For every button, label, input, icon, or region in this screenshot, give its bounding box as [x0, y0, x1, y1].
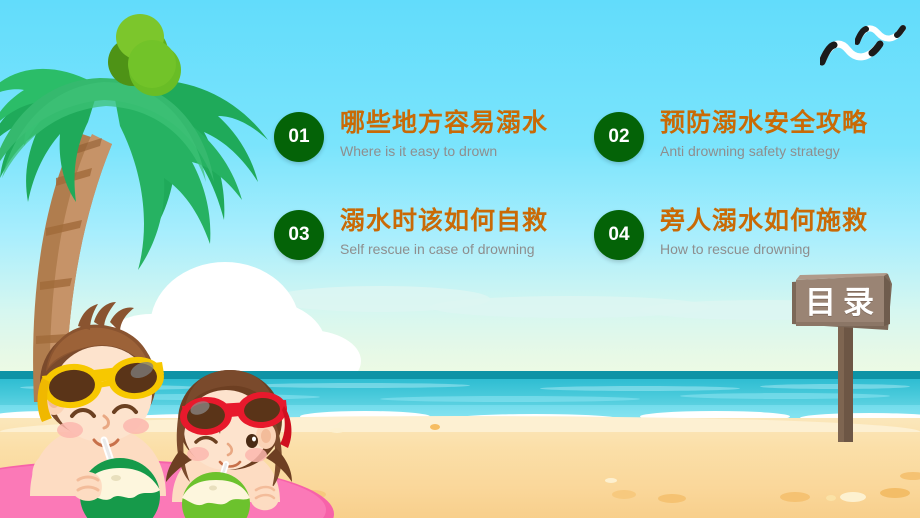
sand-speck — [880, 488, 910, 498]
menu-title-cn: 旁人溺水如何施救 — [660, 204, 906, 238]
menu-item-text: 旁人溺水如何施救 How to rescue drowning — [660, 204, 906, 260]
menu-number-badge: 04 — [594, 210, 644, 260]
menu-item-03[interactable]: 03 溺水时该如何自救 Self rescue in case of drown… — [266, 202, 586, 282]
menu-title-cn: 预防溺水安全攻略 — [660, 106, 906, 140]
menu-number-badge: 01 — [274, 112, 324, 162]
slide-canvas: 目录 — [0, 0, 920, 518]
menu-item-04[interactable]: 04 旁人溺水如何施救 How to rescue drowning — [586, 202, 906, 282]
sand-speck — [605, 478, 617, 483]
seagull-icon — [855, 22, 907, 50]
menu-title-cn: 哪些地方容易溺水 — [340, 106, 586, 140]
sand-speck — [430, 424, 440, 430]
menu-title-en: How to rescue drowning — [660, 238, 906, 260]
wave-highlight — [380, 396, 640, 402]
menu-number-badge: 02 — [594, 112, 644, 162]
menu-item-01[interactable]: 01 哪些地方容易溺水 Where is it easy to drown — [266, 104, 586, 184]
kids-illustration — [0, 300, 334, 518]
menu-title-cn: 溺水时该如何自救 — [340, 204, 586, 238]
menu-title-en: Where is it easy to drown — [340, 140, 586, 162]
menu-item-02[interactable]: 02 预防溺水安全攻略 Anti drowning safety strateg… — [586, 104, 906, 184]
contents-menu: 01 哪些地方容易溺水 Where is it easy to drown 02… — [266, 104, 906, 284]
contents-heading: 目录 — [802, 281, 884, 325]
wave-highlight — [540, 386, 740, 391]
sand-speck — [826, 495, 836, 501]
menu-item-text: 哪些地方容易溺水 Where is it easy to drown — [340, 106, 586, 162]
sand-speck — [612, 490, 636, 499]
menu-title-en: Self rescue in case of drowning — [340, 238, 586, 260]
menu-item-text: 溺水时该如何自救 Self rescue in case of drowning — [340, 204, 586, 260]
sand-speck — [658, 494, 686, 503]
sand-speck — [840, 492, 866, 502]
menu-number-badge: 03 — [274, 210, 324, 260]
sand-speck — [780, 492, 810, 502]
sand-speck — [900, 472, 920, 480]
menu-item-text: 预防溺水安全攻略 Anti drowning safety strategy — [660, 106, 906, 162]
menu-title-en: Anti drowning safety strategy — [660, 140, 906, 162]
